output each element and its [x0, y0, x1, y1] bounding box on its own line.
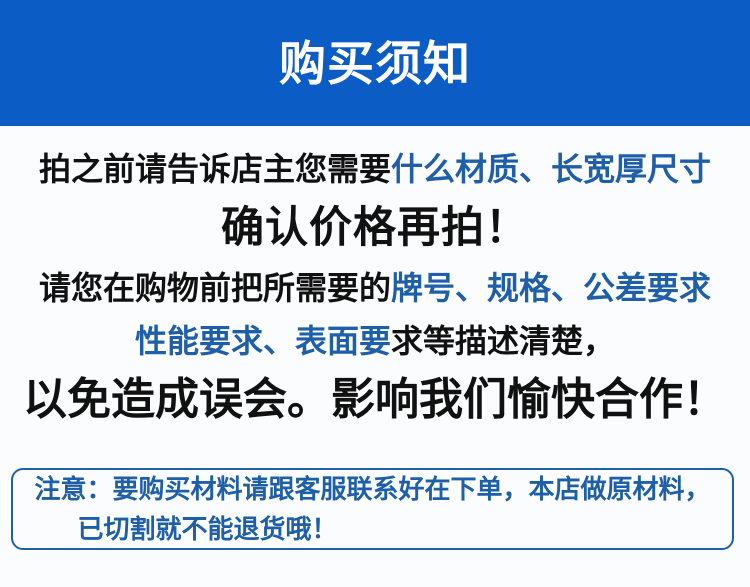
notice-line-1-segment-1: 拍之前请告诉店主您需要: [39, 151, 391, 187]
attention-box: 注意：要购买材料请跟客服联系好在下单，本店做原材料， 已切割就不能退货哦！: [11, 468, 734, 550]
notice-line-1: 拍之前请告诉店主您需要什么材质、长宽厚尺寸: [0, 153, 750, 185]
notice-line-4: 性能要求、表面要求等描述清楚，: [0, 325, 750, 357]
notice-body: 拍之前请告诉店主您需要什么材质、长宽厚尺寸 确认价格再拍！ 请您在购物前把所需要…: [0, 126, 750, 422]
notice-line-2: 确认价格再拍！: [0, 207, 750, 250]
notice-line-5-segment-1: 以免造成误会。影响我们愉快合作！: [23, 375, 727, 424]
header-banner: 购买须知: [0, 0, 750, 126]
page-title: 购买须知: [279, 40, 471, 87]
promo-notice-page: 购买须知 拍之前请告诉店主您需要什么材质、长宽厚尺寸 确认价格再拍！ 请您在购物…: [0, 0, 750, 587]
notice-line-2-segment-1: 确认价格再拍！: [221, 204, 529, 252]
notice-line-4-segment-1: 性能要求、表面要: [135, 323, 391, 359]
attention-text-line-1: 注意：要购买材料请跟客服联系好在下单，本店做原材料，: [34, 476, 710, 502]
notice-line-3-segment-2: 牌号、规格、公差要求: [391, 270, 711, 306]
attention-text-line-2: 已切割就不能退货哦！: [77, 516, 337, 542]
notice-line-3: 请您在购物前把所需要的牌号、规格、公差要求: [0, 272, 750, 304]
notice-line-1-segment-2: 什么材质、长宽厚尺寸: [391, 151, 711, 187]
notice-line-5: 以免造成误会。影响我们愉快合作！: [0, 378, 750, 422]
notice-line-3-segment-1: 请您在购物前把所需要的: [39, 270, 391, 306]
notice-line-4-segment-2: 求等描述清楚，: [391, 323, 615, 359]
